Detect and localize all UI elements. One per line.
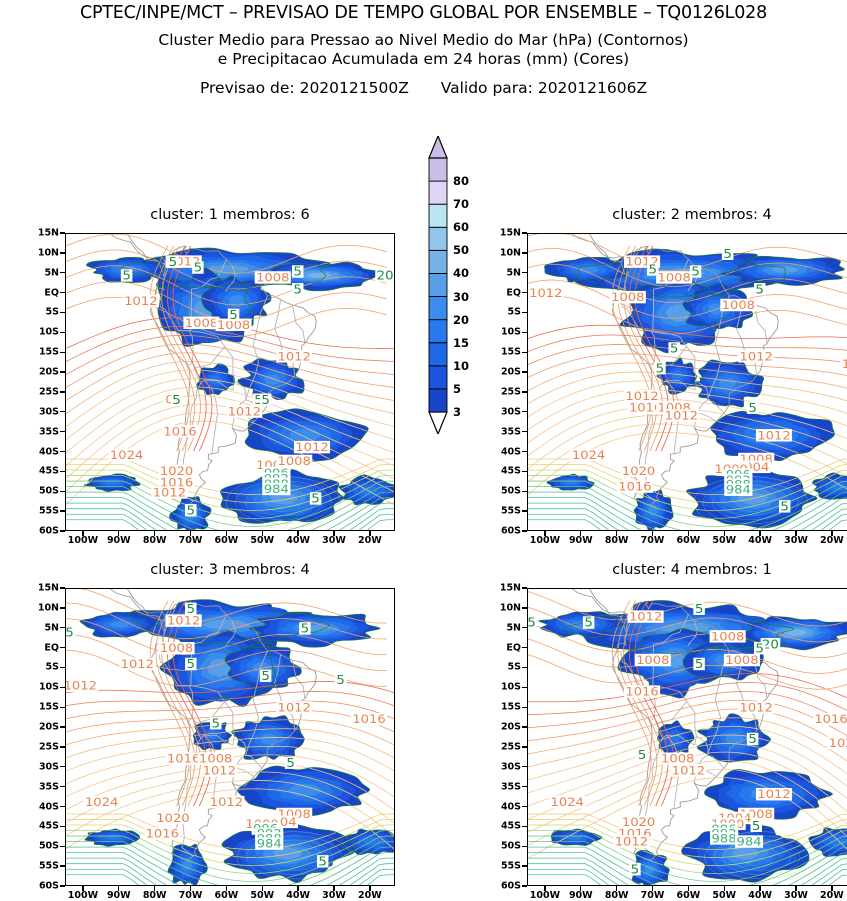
y-tick [522, 627, 527, 628]
y-axis-label: 50S [23, 841, 59, 852]
y-tick [522, 530, 527, 531]
y-axis-label: 40S [23, 446, 59, 457]
y-tick [60, 232, 65, 233]
svg-text:1012: 1012 [210, 795, 243, 809]
y-axis-label: 15N [23, 228, 59, 239]
y-axis-label: 5N [485, 622, 521, 633]
svg-text:1012: 1012 [672, 763, 705, 777]
svg-text:5: 5 [186, 658, 195, 672]
svg-text:1020: 1020 [622, 463, 655, 477]
svg-text:5: 5 [691, 265, 700, 279]
colorbar-tick-70: 70 [453, 197, 469, 211]
institution-title: CPTEC/INPE/MCT – PREVISAO DE TEMPO GLOBA… [0, 0, 847, 23]
y-tick [60, 272, 65, 273]
x-axis-label: 100W [68, 890, 98, 901]
x-axis-label: 50W [712, 890, 736, 901]
valid-for-value: 2020121606Z [538, 79, 647, 97]
svg-text:5: 5 [336, 674, 345, 688]
colorbar-tick-60: 60 [453, 220, 469, 234]
y-tick [522, 352, 527, 353]
y-tick [60, 391, 65, 392]
y-tick [522, 865, 527, 866]
svg-text:5: 5 [648, 263, 657, 277]
y-axis-label: 15S [485, 347, 521, 358]
y-tick [522, 232, 527, 233]
y-tick [522, 707, 527, 708]
svg-text:1016: 1016 [618, 479, 651, 493]
y-tick [522, 607, 527, 608]
svg-text:5: 5 [755, 283, 764, 297]
x-axis-label: 70W [179, 890, 203, 901]
svg-text:1012: 1012 [757, 428, 790, 442]
svg-text:5: 5 [194, 261, 203, 275]
svg-text:1016: 1016 [167, 751, 200, 765]
svg-text:1012: 1012 [665, 408, 698, 422]
svg-text:20: 20 [377, 269, 394, 283]
y-axis-label: 25S [23, 741, 59, 752]
svg-text:1012: 1012 [278, 349, 311, 363]
y-axis-label: 15N [23, 583, 59, 594]
y-axis-label: 10N [23, 247, 59, 258]
y-axis-label: 10N [485, 602, 521, 613]
y-tick [60, 687, 65, 688]
svg-text:1008: 1008 [160, 641, 193, 655]
y-tick [522, 292, 527, 293]
y-tick [60, 786, 65, 787]
y-axis-label: 45S [485, 821, 521, 832]
svg-text:5: 5 [670, 342, 679, 356]
y-axis-label: 10S [485, 327, 521, 338]
svg-text:5: 5 [723, 247, 732, 261]
svg-text:984: 984 [264, 482, 289, 496]
y-tick [60, 471, 65, 472]
y-tick [60, 885, 65, 886]
y-axis-label: 55S [23, 861, 59, 872]
y-axis-label: EQ [23, 642, 59, 653]
y-axis-label: 10S [23, 327, 59, 338]
y-tick [60, 846, 65, 847]
x-axis-label: 40W [748, 535, 772, 546]
svg-text:5: 5 [748, 401, 757, 415]
svg-text:5: 5 [211, 717, 220, 731]
y-tick [522, 726, 527, 727]
y-axis-label: 50S [485, 486, 521, 497]
x-axis-label: 60W [677, 890, 701, 901]
y-axis-label: 60S [23, 526, 59, 537]
map-canvas: 1012100810121008100810121011012101610081… [528, 234, 847, 530]
colorbar-swatches [428, 136, 448, 434]
x-axis-label: 80W [605, 890, 629, 901]
svg-text:1012: 1012 [167, 613, 200, 627]
svg-text:5: 5 [229, 309, 238, 323]
x-axis-label: 60W [215, 535, 239, 546]
y-axis-label: 60S [485, 881, 521, 892]
x-axis-label: 40W [286, 890, 310, 901]
y-tick [60, 292, 65, 293]
svg-text:1008: 1008 [256, 270, 289, 284]
x-axis-label: 50W [250, 535, 274, 546]
map-plot-area-cluster-4: 1012100810081008101610121016102010081012… [527, 588, 847, 886]
y-axis-label: 30S [23, 406, 59, 417]
svg-text:1008: 1008 [711, 629, 744, 643]
y-tick [522, 471, 527, 472]
y-axis-label: 15S [23, 702, 59, 713]
y-axis-label: 45S [23, 466, 59, 477]
y-tick [522, 510, 527, 511]
y-tick [60, 647, 65, 648]
x-axis-label: 70W [641, 535, 665, 546]
colorbar-tick-3: 3 [453, 405, 461, 419]
svg-text:5: 5 [748, 733, 757, 747]
y-axis-label: 30S [23, 761, 59, 772]
map-canvas: 1012100810121008100810121012101610241020… [66, 234, 394, 530]
x-axis-label: 30W [784, 535, 808, 546]
svg-text:1008: 1008 [725, 653, 758, 667]
y-tick [60, 451, 65, 452]
svg-text:984: 984 [257, 836, 282, 850]
y-tick [522, 786, 527, 787]
svg-text:1012: 1012 [124, 294, 157, 308]
svg-text:1012: 1012 [121, 657, 154, 671]
page-header: CPTEC/INPE/MCT – PREVISAO DE TEMPO GLOBA… [0, 0, 847, 97]
svg-text:984: 984 [726, 482, 751, 496]
y-tick [60, 707, 65, 708]
svg-text:1016: 1016 [352, 712, 385, 726]
svg-text:1016: 1016 [814, 712, 847, 726]
svg-text:1020: 1020 [829, 736, 847, 750]
svg-text:1024: 1024 [85, 795, 118, 809]
map-canvas: 1012100810081008101610121016102010081012… [528, 589, 847, 885]
y-tick [522, 431, 527, 432]
svg-text:5: 5 [528, 616, 536, 630]
x-axis-label: 30W [322, 890, 346, 901]
x-axis-label: 20W [820, 535, 844, 546]
forecast-from-value: 2020121500Z [300, 79, 409, 97]
svg-text:1012: 1012 [740, 700, 773, 714]
y-tick [522, 332, 527, 333]
svg-text:1012: 1012 [153, 485, 186, 499]
colorbar-tick-5: 5 [453, 382, 461, 396]
svg-text:5: 5 [186, 602, 195, 616]
y-axis-label: 60S [23, 881, 59, 892]
svg-text:1012: 1012 [295, 440, 328, 454]
y-axis-label: 30S [485, 761, 521, 772]
y-tick [60, 252, 65, 253]
y-axis-label: 15N [485, 228, 521, 239]
svg-text:1024: 1024 [551, 795, 584, 809]
forecast-time-row: Previsao de: 2020121500Z Valido para: 20… [0, 68, 847, 97]
x-axis-label: 30W [784, 890, 808, 901]
svg-text:1008: 1008 [658, 270, 691, 284]
svg-text:1008: 1008 [185, 315, 218, 329]
y-axis-label: 35S [23, 781, 59, 792]
svg-text:1024: 1024 [110, 448, 143, 462]
y-axis-label: 25S [485, 741, 521, 752]
svg-text:1016: 1016 [163, 424, 196, 438]
y-tick [60, 726, 65, 727]
svg-text:5: 5 [286, 756, 295, 770]
precipitation-shading [80, 600, 394, 885]
svg-text:1008: 1008 [611, 290, 644, 304]
forecast-from-label: Previsao de: [200, 79, 295, 97]
x-axis-label: 60W [215, 890, 239, 901]
svg-text:988: 988 [712, 831, 737, 845]
y-tick [522, 391, 527, 392]
y-axis-label: 45S [485, 466, 521, 477]
valid-for-label: Valido para: [441, 79, 533, 97]
svg-text:1012: 1012 [740, 349, 773, 363]
y-tick [60, 607, 65, 608]
x-axis-label: 50W [250, 890, 274, 901]
x-axis-label: 90W [107, 535, 131, 546]
svg-text:5: 5 [293, 283, 302, 297]
svg-text:5: 5 [584, 616, 593, 630]
svg-text:1012: 1012 [615, 834, 648, 848]
y-tick [60, 766, 65, 767]
x-axis-label: 70W [641, 890, 665, 901]
precipitation-colorbar: 35101520304050607080 [428, 136, 484, 434]
y-tick [522, 491, 527, 492]
svg-text:101: 101 [842, 357, 847, 371]
y-tick [60, 371, 65, 372]
map-canvas: 1012100810121012101210161016100810121024… [66, 589, 394, 885]
subtitle-line-2: e Precipitacao Acumulada em 24 horas (mm… [0, 49, 847, 68]
y-axis-label: 10N [485, 247, 521, 258]
y-tick [60, 491, 65, 492]
y-axis-label: 15S [23, 347, 59, 358]
y-axis-label: 20S [23, 722, 59, 733]
svg-text:5: 5 [301, 622, 310, 636]
y-axis-label: 30S [485, 406, 521, 417]
x-axis-label: 50W [712, 535, 736, 546]
svg-text:5: 5 [752, 820, 761, 834]
y-tick [60, 332, 65, 333]
colorbar-tick-80: 80 [453, 174, 469, 188]
y-tick [60, 746, 65, 747]
svg-text:1024: 1024 [572, 448, 605, 462]
svg-text:1012: 1012 [278, 700, 311, 714]
y-axis-label: 10S [485, 682, 521, 693]
panel-title-cluster-2: cluster: 2 membros: 4 [487, 207, 847, 223]
svg-text:1012: 1012 [529, 286, 562, 300]
y-tick [522, 252, 527, 253]
svg-text:5: 5 [261, 393, 270, 407]
y-axis-label: 5N [23, 267, 59, 278]
y-tick [60, 510, 65, 511]
colorbar-tick-10: 10 [453, 359, 469, 373]
x-axis-label: 80W [143, 890, 167, 901]
x-axis-label: 100W [530, 535, 560, 546]
y-axis-label: 35S [485, 426, 521, 437]
x-axis-label: 40W [748, 890, 772, 901]
y-tick [60, 667, 65, 668]
y-tick [522, 885, 527, 886]
y-axis-label: 5N [485, 267, 521, 278]
colorbar-tick-20: 20 [453, 313, 469, 327]
y-axis-label: 5N [23, 622, 59, 633]
y-tick [60, 826, 65, 827]
y-axis-label: EQ [485, 642, 521, 653]
y-axis-label: 15N [485, 583, 521, 594]
y-tick [60, 627, 65, 628]
y-tick [522, 312, 527, 313]
svg-text:5: 5 [656, 362, 665, 376]
y-tick [60, 530, 65, 531]
y-tick [522, 451, 527, 452]
x-axis-label: 40W [286, 535, 310, 546]
y-tick [522, 687, 527, 688]
svg-text:5: 5 [631, 863, 640, 877]
y-axis-label: 20S [485, 367, 521, 378]
y-tick [60, 411, 65, 412]
svg-text:5: 5 [122, 269, 131, 283]
map-plot-area-cluster-1: 1012100810121008100810121012101610241020… [65, 233, 395, 531]
svg-text:984: 984 [737, 834, 762, 848]
y-tick [60, 865, 65, 866]
svg-text:1012: 1012 [66, 678, 97, 692]
colorbar-tick-40: 40 [453, 266, 469, 280]
svg-text:5: 5 [261, 670, 270, 684]
colorbar-tick-30: 30 [453, 290, 469, 304]
y-tick [522, 766, 527, 767]
y-tick [522, 272, 527, 273]
y-axis-label: 25S [485, 386, 521, 397]
panel-title-cluster-1: cluster: 1 membros: 6 [25, 207, 435, 223]
y-axis-label: 5S [485, 307, 521, 318]
panel-title-cluster-4: cluster: 4 membros: 1 [487, 562, 847, 578]
svg-text:1016: 1016 [625, 684, 658, 698]
map-plot-area-cluster-2: 1012100810121008100810121011012101610081… [527, 233, 847, 531]
y-axis-label: 50S [23, 486, 59, 497]
y-axis-label: 55S [485, 861, 521, 872]
y-axis-label: 35S [23, 426, 59, 437]
svg-text:5: 5 [311, 492, 320, 506]
svg-text:5: 5 [318, 855, 327, 869]
y-tick [522, 647, 527, 648]
x-axis-label: 80W [143, 535, 167, 546]
y-axis-label: 15S [485, 702, 521, 713]
y-tick [60, 587, 65, 588]
subtitle-line-1: Cluster Medio para Pressao ao Nivel Medi… [0, 23, 847, 49]
svg-text:5: 5 [66, 626, 74, 640]
y-axis-label: 50S [485, 841, 521, 852]
svg-text:5: 5 [172, 393, 181, 407]
y-axis-label: 20S [485, 722, 521, 733]
y-axis-label: 10S [23, 682, 59, 693]
y-axis-label: EQ [23, 287, 59, 298]
y-axis-label: 55S [23, 506, 59, 517]
y-tick [60, 352, 65, 353]
x-axis-label: 90W [569, 535, 593, 546]
svg-text:1012: 1012 [629, 609, 662, 623]
y-axis-label: 25S [23, 386, 59, 397]
y-axis-label: 10N [23, 602, 59, 613]
svg-text:1020: 1020 [156, 811, 189, 825]
panel-title-cluster-3: cluster: 3 membros: 4 [25, 562, 435, 578]
svg-text:1012: 1012 [203, 763, 236, 777]
y-tick [522, 371, 527, 372]
x-axis-label: 90W [107, 890, 131, 901]
x-axis-label: 70W [179, 535, 203, 546]
y-axis-label: 35S [485, 781, 521, 792]
svg-text:5: 5 [695, 602, 704, 616]
y-tick [60, 431, 65, 432]
svg-text:1008: 1008 [636, 653, 669, 667]
y-tick [522, 667, 527, 668]
y-tick [522, 746, 527, 747]
colorbar-tick-50: 50 [453, 243, 469, 257]
y-axis-label: 40S [485, 446, 521, 457]
map-plot-area-cluster-3: 1012100810121012101210161016100810121024… [65, 588, 395, 886]
svg-text:1008: 1008 [722, 298, 755, 312]
y-axis-label: 55S [485, 506, 521, 517]
x-axis-label: 30W [322, 535, 346, 546]
y-axis-label: 5S [485, 662, 521, 673]
y-tick [522, 806, 527, 807]
svg-text:5: 5 [780, 500, 789, 514]
svg-text:5: 5 [169, 255, 178, 269]
x-axis-label: 80W [605, 535, 629, 546]
x-axis-label: 100W [68, 535, 98, 546]
y-axis-label: 60S [485, 526, 521, 537]
x-axis-label: 20W [820, 890, 844, 901]
colorbar-tick-15: 15 [453, 336, 469, 350]
svg-text:1016: 1016 [146, 826, 179, 840]
y-tick [522, 846, 527, 847]
y-tick [522, 826, 527, 827]
x-axis-label: 100W [530, 890, 560, 901]
y-tick [522, 411, 527, 412]
x-axis-label: 90W [569, 890, 593, 901]
y-tick [60, 312, 65, 313]
y-axis-label: 5S [23, 307, 59, 318]
svg-text:5: 5 [755, 642, 764, 656]
svg-text:5: 5 [638, 748, 647, 762]
y-axis-label: 45S [23, 821, 59, 832]
x-axis-label: 60W [677, 535, 701, 546]
y-tick [60, 806, 65, 807]
svg-text:5: 5 [695, 658, 704, 672]
y-axis-label: EQ [485, 287, 521, 298]
x-axis-label: 20W [358, 535, 382, 546]
x-axis-label: 20W [358, 890, 382, 901]
y-axis-label: 5S [23, 662, 59, 673]
svg-text:1012: 1012 [757, 787, 790, 801]
y-tick [522, 587, 527, 588]
svg-text:5: 5 [293, 265, 302, 279]
y-axis-label: 20S [23, 367, 59, 378]
svg-text:5: 5 [186, 504, 195, 518]
